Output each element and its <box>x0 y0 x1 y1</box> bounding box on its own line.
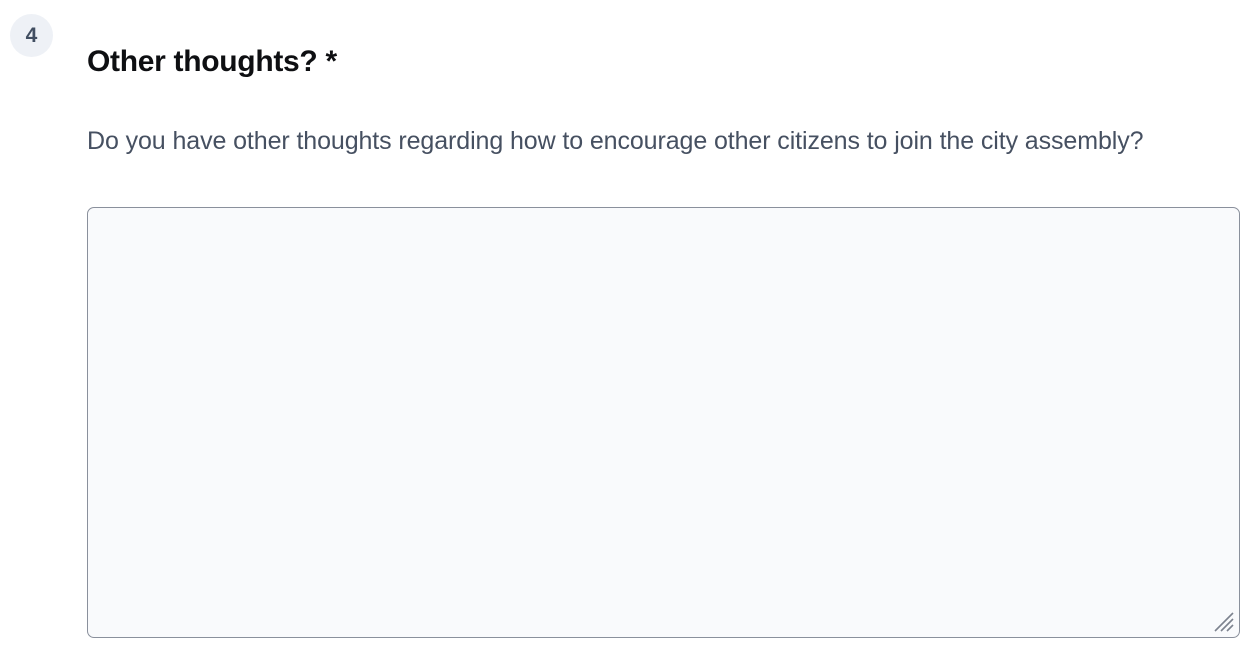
question-block: 4 Other thoughts? * Do you have other th… <box>0 0 1252 660</box>
answer-textarea[interactable] <box>87 207 1240 638</box>
required-asterisk: * <box>326 45 337 78</box>
question-title-text: Other thoughts? <box>87 45 317 78</box>
page-title: Other thoughts? * <box>87 42 337 82</box>
question-number-badge: 4 <box>10 14 53 57</box>
answer-area-wrap <box>87 207 1240 638</box>
question-description: Do you have other thoughts regarding how… <box>87 121 1227 161</box>
